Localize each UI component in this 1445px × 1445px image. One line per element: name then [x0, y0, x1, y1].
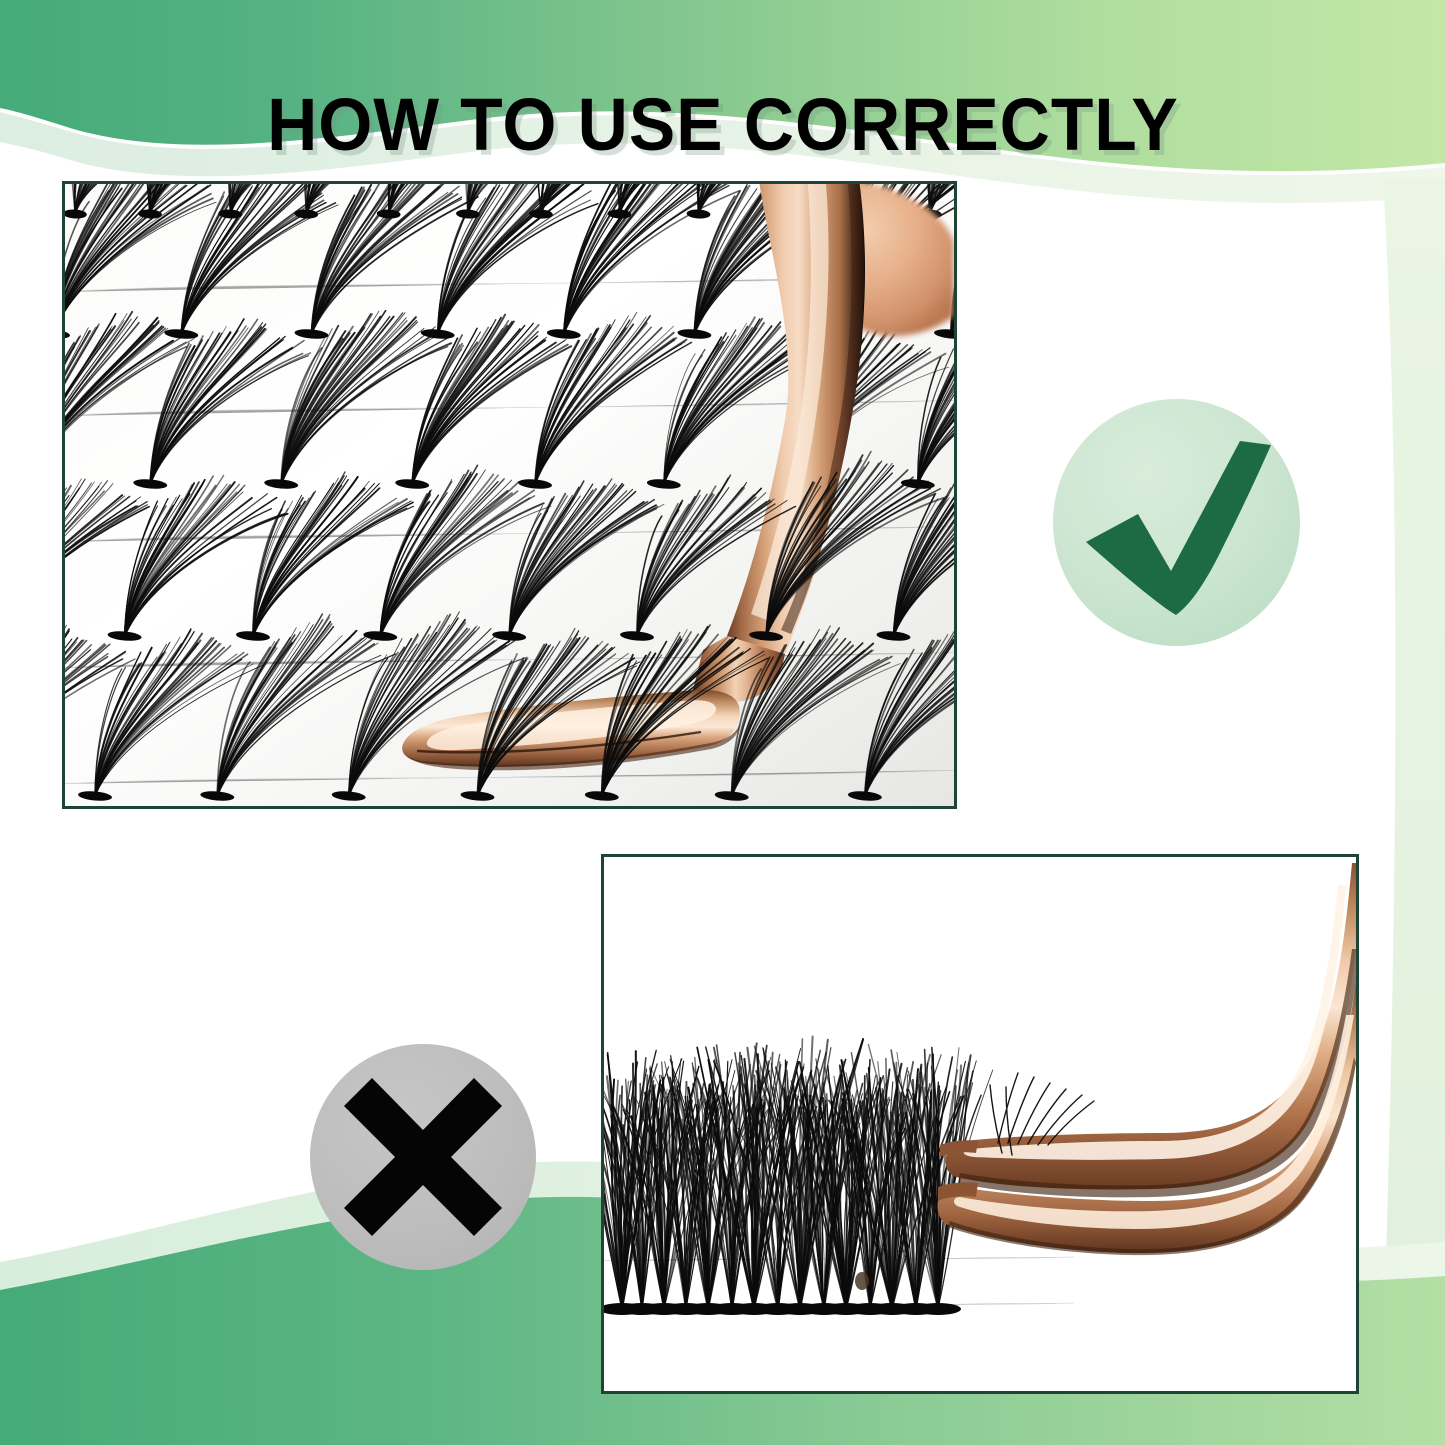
- correct-usage-photo: [62, 181, 957, 809]
- page-title-bar: HOW TO USE CORRECTLY: [0, 38, 1445, 211]
- incorrect-usage-illustration: [604, 857, 1356, 1391]
- right-edge-pale-wash: [1383, 178, 1445, 1258]
- check-icon: Correct: [1053, 399, 1300, 646]
- page-title: HOW TO USE CORRECTLY: [267, 88, 1179, 162]
- tray-speck: [855, 1272, 869, 1290]
- cross-mark-glyph: [310, 1044, 536, 1270]
- check-mark-glyph: [1053, 399, 1300, 646]
- cross-icon: Incorrect: [310, 1044, 536, 1270]
- infographic-page: HOW TO USE CORRECTLY: [0, 0, 1445, 1445]
- incorrect-usage-photo-inner: [604, 857, 1356, 1391]
- incorrect-usage-photo: [601, 854, 1359, 1394]
- correct-usage-illustration: [65, 184, 954, 806]
- correct-usage-photo-inner: [65, 184, 954, 806]
